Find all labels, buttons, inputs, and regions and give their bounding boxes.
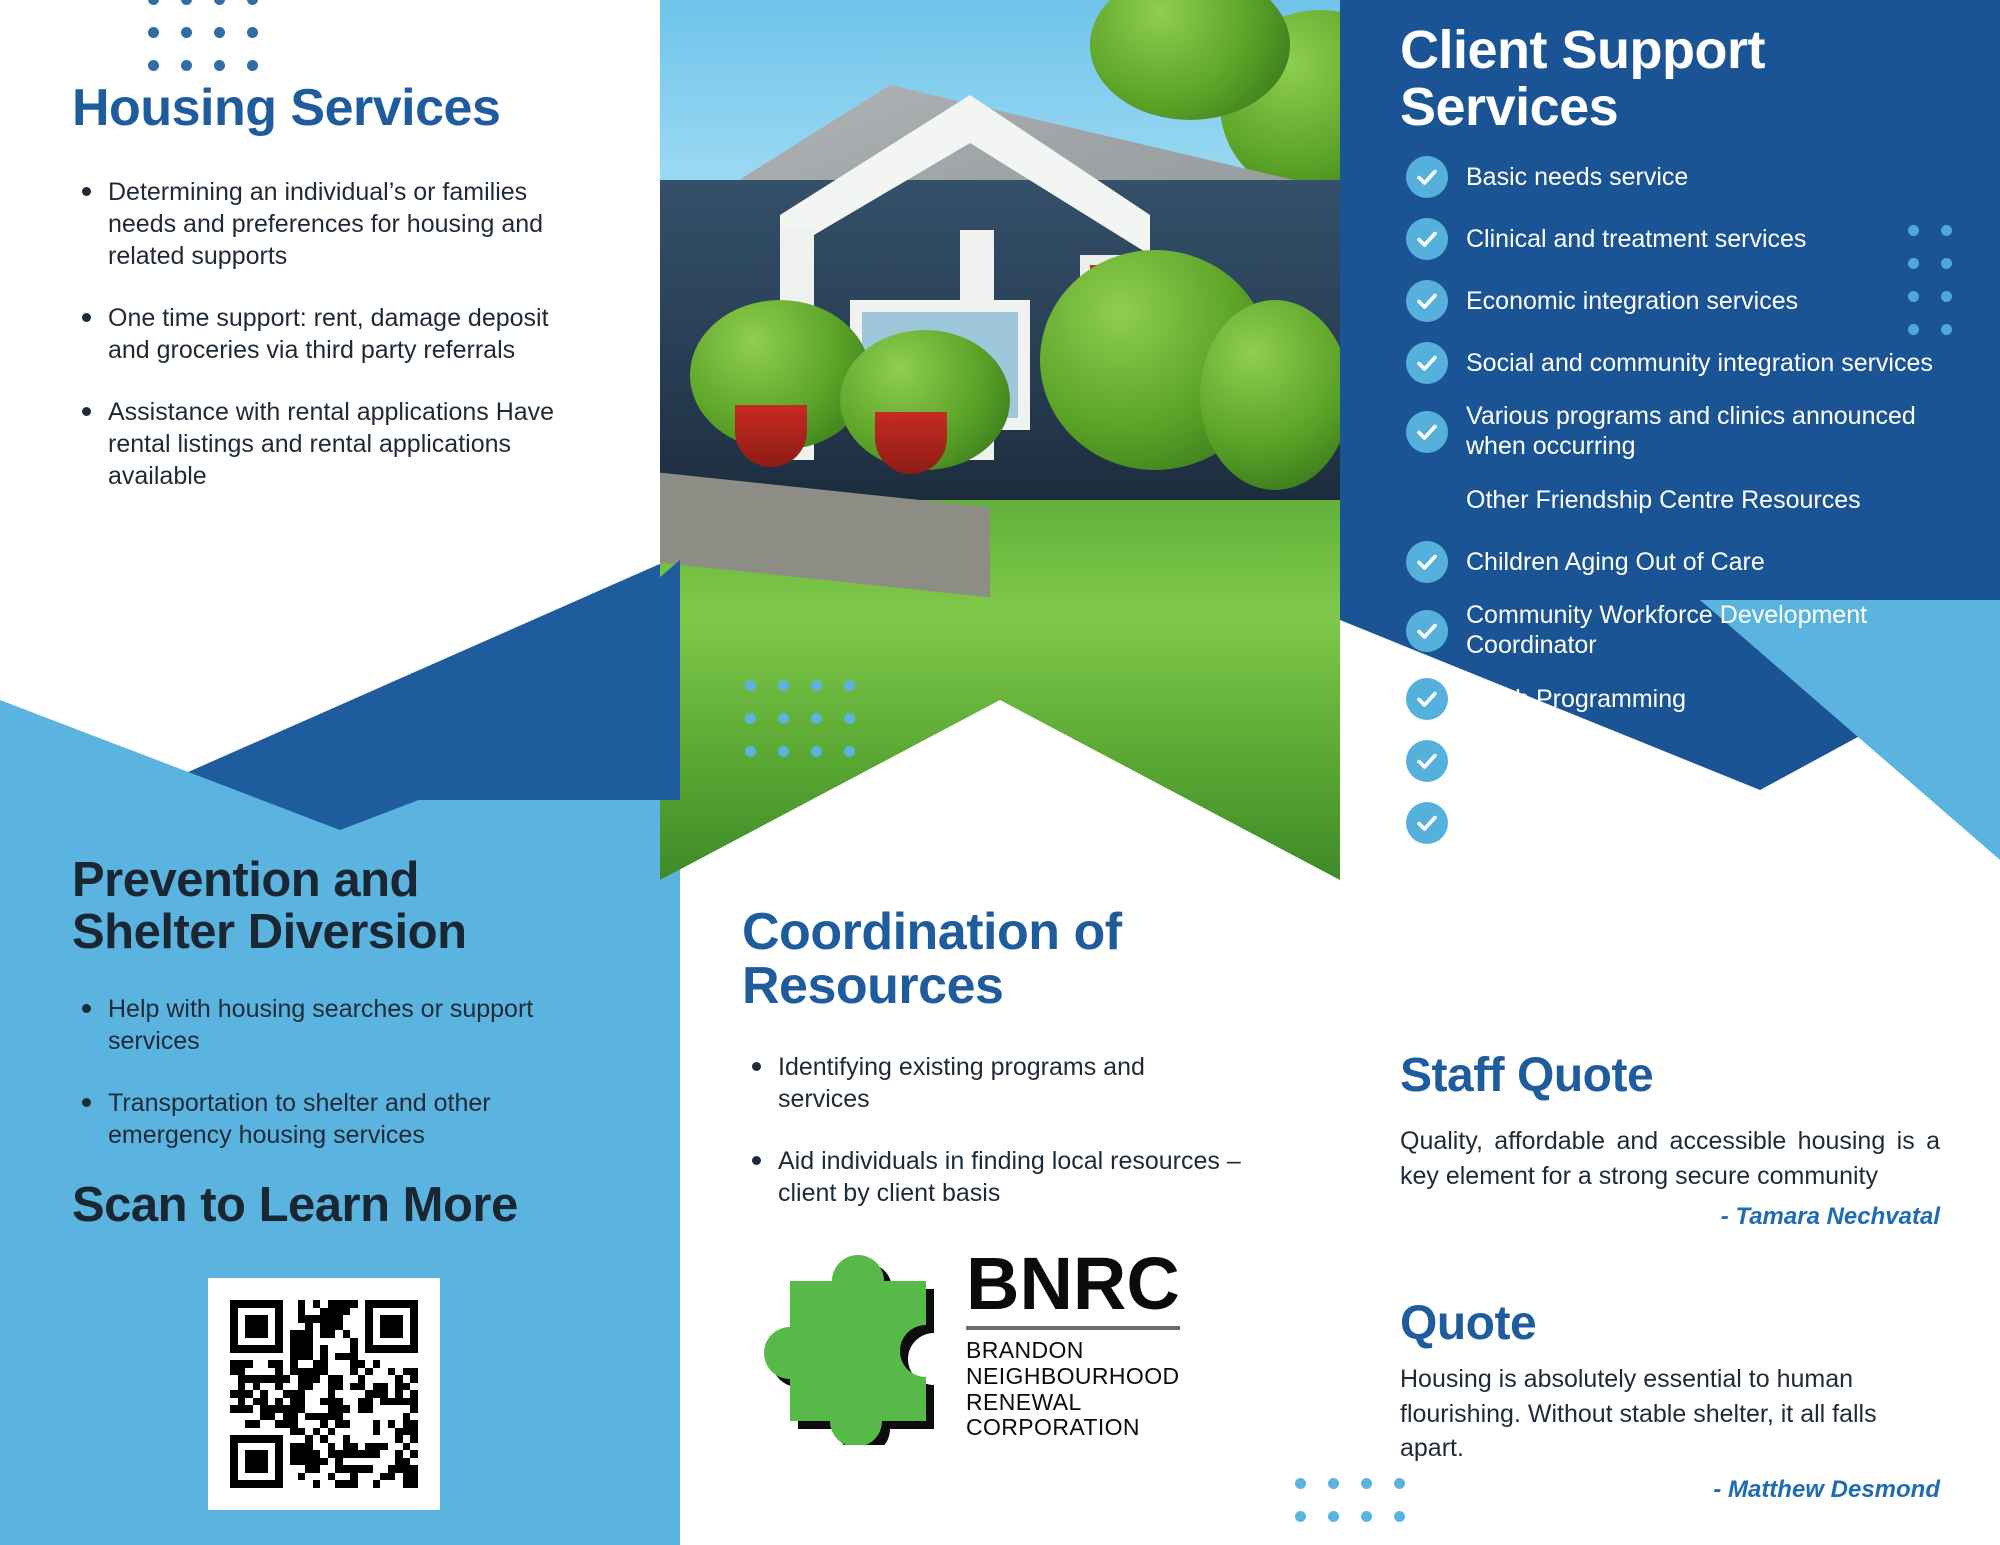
housing-services-section: Housing Services Determining an individu… bbox=[72, 82, 592, 522]
client-support-item: Various programs and clinics announced w… bbox=[1400, 402, 1940, 461]
prevention-list: Help with housing searches or support se… bbox=[72, 993, 592, 1151]
dot-grid-bottom bbox=[1295, 1478, 1405, 1522]
staff-quote-attribution: - Tamara Nechvatal bbox=[1400, 1203, 1940, 1231]
qr-code[interactable] bbox=[208, 1278, 440, 1510]
staff-quote-title: Staff Quote bbox=[1400, 1052, 1940, 1100]
client-support-item-label: Core Programming bbox=[1466, 747, 1677, 777]
list-item: Determining an individual’s or families … bbox=[72, 176, 592, 272]
check-icon bbox=[1406, 740, 1448, 782]
staff-quote-section: Staff Quote Quality, affordable and acce… bbox=[1400, 1052, 1940, 1231]
client-support-item: Community Workforce Development Coordina… bbox=[1400, 601, 1940, 660]
client-support-item: Youth Programming bbox=[1400, 676, 1940, 722]
list-item: Help with housing searches or support se… bbox=[72, 993, 592, 1057]
list-item: One time support: rent, damage deposit a… bbox=[72, 302, 592, 366]
brochure-page: Housing Services Determining an individu… bbox=[0, 0, 2000, 1545]
list-item: Aid individuals in finding local resourc… bbox=[742, 1145, 1242, 1209]
quote-section: Quote Housing is absolutely essential to… bbox=[1400, 1300, 1940, 1504]
qr-code-matrix bbox=[230, 1300, 418, 1488]
bnrc-acronym: BNRC bbox=[966, 1249, 1180, 1319]
check-icon bbox=[1406, 678, 1448, 720]
check-icon bbox=[1406, 802, 1448, 844]
client-support-item-label: Various programs and clinics announced w… bbox=[1466, 402, 1940, 461]
bnrc-subline-3: RENEWAL bbox=[966, 1390, 1180, 1416]
dot-grid-center bbox=[745, 680, 855, 757]
staff-quote-text: Quality, affordable and accessible housi… bbox=[1400, 1124, 1940, 1193]
bnrc-logo: BNRC BRANDON NEIGHBOURHOOD RENEWAL CORPO… bbox=[730, 1245, 1180, 1445]
coordination-title: Coordination of Resources bbox=[742, 905, 1242, 1013]
client-support-item: Social and community integration service… bbox=[1400, 340, 1940, 386]
check-icon bbox=[1406, 218, 1448, 260]
bnrc-divider bbox=[966, 1326, 1180, 1330]
quote-title: Quote bbox=[1400, 1300, 1940, 1348]
check-icon bbox=[1406, 610, 1448, 652]
client-support-item: Other Friendship Centre Resources bbox=[1400, 477, 1940, 523]
client-support-item-label: Economic integration services bbox=[1466, 287, 1798, 317]
client-support-title: Client Support Services bbox=[1400, 22, 1940, 136]
housing-services-list: Determining an individual’s or families … bbox=[72, 176, 592, 492]
client-support-item-label: IT Administration bbox=[1466, 809, 1652, 839]
client-support-item-label: Community Workforce Development Coordina… bbox=[1466, 601, 1940, 660]
client-support-item-label: Basic needs service bbox=[1466, 163, 1688, 193]
client-support-item-label: Youth Programming bbox=[1466, 685, 1686, 715]
check-icon bbox=[1406, 280, 1448, 322]
quote-text: Housing is absolutely essential to human… bbox=[1400, 1362, 1940, 1466]
check-icon bbox=[1406, 541, 1448, 583]
check-icon bbox=[1406, 411, 1448, 453]
client-support-item: IT Administration bbox=[1400, 800, 1940, 846]
check-icon bbox=[1406, 156, 1448, 198]
quote-attribution: - Matthew Desmond bbox=[1400, 1476, 1940, 1504]
bnrc-subline-1: BRANDON bbox=[966, 1338, 1180, 1364]
client-support-item: Clinical and treatment services bbox=[1400, 216, 1940, 262]
photo-shrub-4 bbox=[1200, 300, 1340, 490]
puzzle-piece-icon bbox=[730, 1245, 940, 1445]
bnrc-wordmark: BNRC BRANDON NEIGHBOURHOOD RENEWAL CORPO… bbox=[966, 1249, 1180, 1441]
bnrc-subline-2: NEIGHBOURHOOD bbox=[966, 1364, 1180, 1390]
check-icon bbox=[1406, 342, 1448, 384]
client-support-item-label: Social and community integration service… bbox=[1466, 349, 1933, 379]
scan-to-learn-more-title: Scan to Learn More bbox=[72, 1181, 592, 1230]
client-support-item: Core Programming bbox=[1400, 738, 1940, 784]
coordination-section: Coordination of Resources Identifying ex… bbox=[742, 905, 1242, 1239]
client-support-item-label: Children Aging Out of Care bbox=[1466, 548, 1765, 578]
list-item: Assistance with rental applications Have… bbox=[72, 396, 592, 492]
list-item: Identifying existing programs and servic… bbox=[742, 1051, 1242, 1115]
client-support-item-label: Clinical and treatment services bbox=[1466, 225, 1806, 255]
client-support-section: Client Support Services Basic needs serv… bbox=[1400, 22, 1940, 862]
prevention-title: Prevention and Shelter Diversion bbox=[72, 855, 592, 959]
client-support-item-label: Other Friendship Centre Resources bbox=[1466, 486, 1861, 516]
client-support-list: Basic needs serviceClinical and treatmen… bbox=[1400, 154, 1940, 846]
housing-services-title: Housing Services bbox=[72, 82, 592, 134]
bnrc-subline-4: CORPORATION bbox=[966, 1415, 1180, 1441]
dot-grid-top-left bbox=[148, 0, 258, 71]
prevention-section: Prevention and Shelter Diversion Help wi… bbox=[72, 855, 592, 1230]
client-support-item: Children Aging Out of Care bbox=[1400, 539, 1940, 585]
client-support-item: Economic integration services bbox=[1400, 278, 1940, 324]
coordination-list: Identifying existing programs and servic… bbox=[742, 1051, 1242, 1209]
list-item: Transportation to shelter and other emer… bbox=[72, 1087, 592, 1151]
client-support-item: Basic needs service bbox=[1400, 154, 1940, 200]
